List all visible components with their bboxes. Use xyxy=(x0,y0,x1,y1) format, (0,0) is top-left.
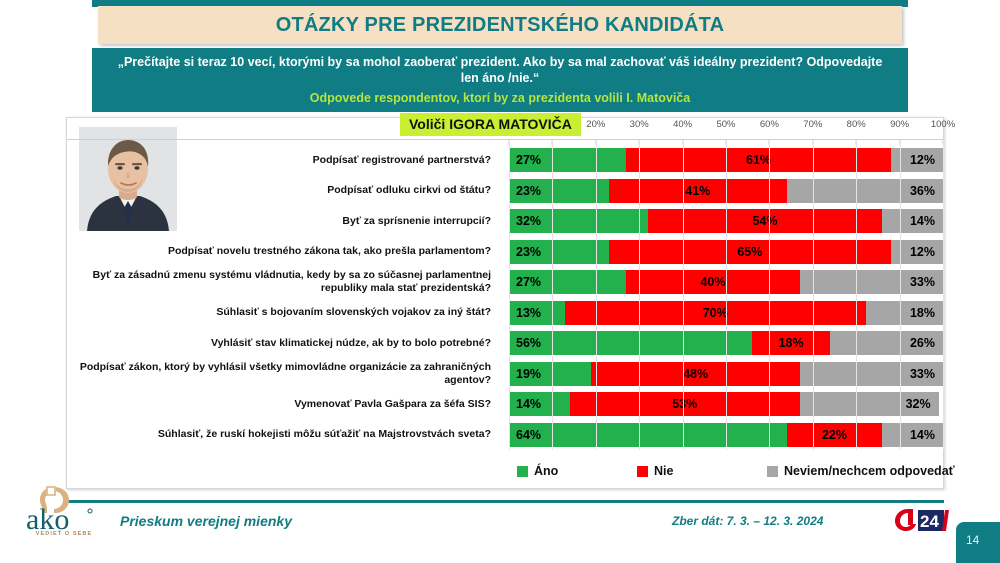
chart-row: Podpísať odluku cirkvi od štátu?23%41%36… xyxy=(67,176,943,207)
survey-question-text: „Prečítajte si teraz 10 vecí, ktorými by… xyxy=(110,55,890,86)
bar-segment-ano: 27% xyxy=(509,270,626,294)
legend-label: Áno xyxy=(534,464,558,478)
bar-value-label: 40% xyxy=(700,275,725,289)
bar-segment-nie: 61% xyxy=(626,148,891,172)
bar-value-label: 19% xyxy=(509,367,541,381)
gridline xyxy=(813,140,814,450)
ta3-channel-logo: 24 xyxy=(893,507,951,533)
gridline xyxy=(900,140,901,450)
bar-segment-nie: 41% xyxy=(609,179,787,203)
bar-value-label: 22% xyxy=(822,428,847,442)
chart-legend: ÁnoNieNeviem/nechcem odpovedať xyxy=(67,458,943,484)
question-label: Vyhlásiť stav klimatickej núdze, ak by t… xyxy=(67,328,497,359)
respondent-filter-text: Odpovede respondentov, ktorí by za prezi… xyxy=(310,91,690,105)
bar-value-label: 27% xyxy=(509,153,541,167)
x-axis-tick-label: 60% xyxy=(760,119,779,130)
gridline xyxy=(509,140,510,450)
bar-segment-nie: 65% xyxy=(609,240,891,264)
bar-value-label: 33% xyxy=(910,367,943,381)
chart-row: Podpísať registrované partnerstvá?27%61%… xyxy=(67,145,943,176)
bar-segment-nev: 36% xyxy=(787,179,943,203)
bar-value-label: 27% xyxy=(509,275,541,289)
bar-segment-nie: 22% xyxy=(787,423,882,447)
page-number-badge: 14 xyxy=(956,522,1000,563)
bar-segment-nev: 33% xyxy=(800,362,943,386)
x-axis-tick-label: 30% xyxy=(630,119,649,130)
x-axis-tick-label: 20% xyxy=(586,119,605,130)
x-axis-tick-label: 70% xyxy=(803,119,822,130)
bar-value-label: 53% xyxy=(672,397,697,411)
bar-value-label: 13% xyxy=(509,306,541,320)
question-label: Súhlasiť s bojovaním slovenských vojakov… xyxy=(67,298,497,329)
bar-value-label: 65% xyxy=(737,245,762,259)
gridline xyxy=(683,140,684,450)
bar-value-label: 26% xyxy=(910,336,943,350)
bar-segment-ano: 23% xyxy=(509,240,609,264)
chart-row: Vymenovať Pavla Gašpara za šéfa SIS?14%5… xyxy=(67,389,943,420)
x-axis-tick-label: 50% xyxy=(716,119,735,130)
question-label: Byť za zásadnú zmenu systému vládnutia, … xyxy=(67,267,497,298)
bar-value-label: 61% xyxy=(746,153,771,167)
question-label: Podpísať zákon, ktorý by vyhlásil všetky… xyxy=(67,359,497,390)
legend-swatch xyxy=(767,466,778,477)
bar-segment-nev: 18% xyxy=(866,301,943,325)
bar-segment-ano: 32% xyxy=(509,209,648,233)
legend-label: Neviem/nechcem odpovedať xyxy=(784,464,955,478)
bar-value-label: 56% xyxy=(509,336,541,350)
question-label: Súhlasiť, že ruskí hokejisti môžu súťaži… xyxy=(67,420,497,451)
slide: OTÁZKY PRE PREZIDENTSKÉHO KANDIDÁTA „Pre… xyxy=(0,0,1000,563)
ako-logo: ako VEDIEŤ O SEBE xyxy=(14,485,110,547)
bar-segment-ano: 64% xyxy=(509,423,787,447)
bar-segment-ano: 13% xyxy=(509,301,565,325)
bar-segment-nev: 26% xyxy=(830,331,943,355)
svg-text:24: 24 xyxy=(920,512,939,531)
bar-value-label: 14% xyxy=(509,397,541,411)
legend-item: Neviem/nechcem odpovedať xyxy=(767,464,955,478)
bar-value-label: 18% xyxy=(910,306,943,320)
bar-value-label: 12% xyxy=(910,153,943,167)
legend-label: Nie xyxy=(654,464,673,478)
chart-row: Vyhlásiť stav klimatickej núdze, ak by t… xyxy=(67,328,943,359)
bar-value-label: 70% xyxy=(703,306,728,320)
chart-row: Súhlasiť, že ruskí hokejisti môžu súťaži… xyxy=(67,420,943,451)
question-label: Byť za sprísnenie interrupcií? xyxy=(67,206,497,237)
footer-collection-date: Zber dát: 7. 3. – 12. 3. 2024 xyxy=(672,514,823,528)
bar-value-label: 12% xyxy=(910,245,943,259)
question-label: Podpísať registrované partnerstvá? xyxy=(67,145,497,176)
bar-segment-nie: 70% xyxy=(565,301,866,325)
chart-rows: Podpísať registrované partnerstvá?27%61%… xyxy=(67,145,943,450)
bar-segment-ano: 19% xyxy=(509,362,591,386)
x-axis-tick-label: 90% xyxy=(890,119,909,130)
bar-segment-nev: 14% xyxy=(882,209,943,233)
page-title: OTÁZKY PRE PREZIDENTSKÉHO KANDIDÁTA xyxy=(276,14,725,37)
subtitle-band: „Prečítajte si teraz 10 vecí, ktorými by… xyxy=(92,48,908,112)
x-axis-tick-label: 40% xyxy=(673,119,692,130)
bar-value-label: 18% xyxy=(779,336,804,350)
gridline xyxy=(552,140,553,450)
bar-segment-nev: 33% xyxy=(800,270,943,294)
gridline xyxy=(943,140,944,450)
chart-panel: Voliči IGORA MATOVIČA 0%10%20%30%40%50%6… xyxy=(66,117,944,489)
chart-row: Podpísať zákon, ktorý by vyhlásil všetky… xyxy=(67,359,943,390)
bar-segment-ano: 27% xyxy=(509,148,626,172)
question-label: Vymenovať Pavla Gašpara za šéfa SIS? xyxy=(67,389,497,420)
bar-value-label: 48% xyxy=(683,367,708,381)
legend-item: Nie xyxy=(637,464,673,478)
legend-item: Áno xyxy=(517,464,558,478)
bar-segment-nie: 53% xyxy=(570,392,800,416)
legend-swatch xyxy=(517,466,528,477)
x-axis-tick-label: 80% xyxy=(847,119,866,130)
x-axis-tick-label: 100% xyxy=(931,119,955,130)
bar-value-label: 64% xyxy=(509,428,541,442)
bar-value-label: 23% xyxy=(509,245,541,259)
gridline xyxy=(726,140,727,450)
voter-group-highlight: Voliči IGORA MATOVIČA xyxy=(400,113,581,136)
chart-row: Podpísať novelu trestného zákona tak, ak… xyxy=(67,237,943,268)
page-number: 14 xyxy=(966,533,979,547)
legend-swatch xyxy=(637,466,648,477)
bar-value-label: 33% xyxy=(910,275,943,289)
bar-value-label: 36% xyxy=(910,184,943,198)
bar-value-label: 14% xyxy=(910,214,943,228)
gridline xyxy=(856,140,857,450)
title-band: OTÁZKY PRE PREZIDENTSKÉHO KANDIDÁTA xyxy=(98,6,902,44)
bar-segment-nie: 18% xyxy=(752,331,830,355)
gridline xyxy=(639,140,640,450)
chart-row: Byť za sprísnenie interrupcií?32%54%14% xyxy=(67,206,943,237)
bar-value-label: 41% xyxy=(685,184,710,198)
bar-segment-nev: 14% xyxy=(882,423,943,447)
bar-segment-ano: 23% xyxy=(509,179,609,203)
bar-value-label: 32% xyxy=(509,214,541,228)
question-label: Podpísať novelu trestného zákona tak, ak… xyxy=(67,237,497,268)
bar-segment-ano: 14% xyxy=(509,392,570,416)
bar-segment-nev: 32% xyxy=(800,392,939,416)
bar-value-label: 14% xyxy=(910,428,943,442)
question-label: Podpísať odluku cirkvi od štátu? xyxy=(67,176,497,207)
bar-value-label: 54% xyxy=(753,214,778,228)
footer-survey-label: Prieskum verejnej mienky xyxy=(120,513,292,529)
chart-row: Súhlasiť s bojovaním slovenských vojakov… xyxy=(67,298,943,329)
gridline xyxy=(596,140,597,450)
svg-text:ako: ako xyxy=(26,503,69,533)
bar-segment-nie: 40% xyxy=(626,270,800,294)
footer: ako VEDIEŤ O SEBE Prieskum verejnej mien… xyxy=(0,503,1000,543)
ako-logo-tagline: VEDIEŤ O SEBE xyxy=(18,531,110,537)
gridline xyxy=(769,140,770,450)
chart-row: Byť za zásadnú zmenu systému vládnutia, … xyxy=(67,267,943,298)
bar-segment-ano: 56% xyxy=(509,331,752,355)
bar-value-label: 32% xyxy=(906,397,939,411)
bar-value-label: 23% xyxy=(509,184,541,198)
